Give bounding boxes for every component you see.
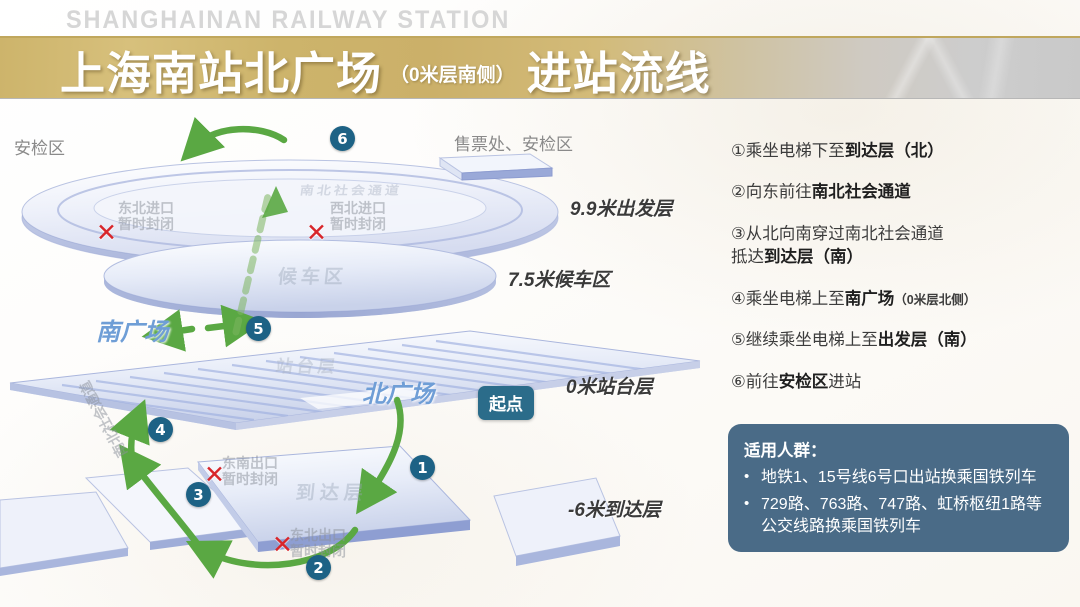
infobox-item-2: • 729路、763路、747路、虹桥枢纽1路等公交线路换乘国铁列车 (744, 494, 1053, 538)
x-icon-nw-up: ✕ (306, 220, 327, 245)
infobox-title: 适用人群： (744, 437, 1053, 461)
step-bold-4: 南广场 (845, 290, 895, 308)
infobox-item-1: • 地铁1、15号线6号口出站换乘国铁列车 (744, 467, 1053, 489)
page-title: 上海南站北广场 （0米层南侧） 进站流线 (60, 40, 711, 98)
step-marker-3: 3 (186, 482, 211, 507)
floor-label-0: 0米站台层 (566, 372, 653, 399)
step-text-3: 从北向南穿过南北社会通道 (746, 225, 944, 243)
step-num-4: ④ (731, 290, 746, 308)
step-tiny-4: （0米层北侧） (894, 293, 976, 307)
step-num-2: ② (731, 183, 746, 201)
label-departure-faint: 南北社会通道 (299, 182, 403, 199)
step-item-5: ⑤继续乘坐电梯上至出发层（南） (731, 329, 1071, 352)
label-ticket-security-right: 售票处、安检区 (454, 130, 573, 155)
step-bold-6: 安检区 (779, 373, 829, 391)
step-num-1: ① (731, 142, 746, 160)
title-main: 上海南站北广场 (60, 37, 382, 102)
label-platform-faint: 站台层 (274, 352, 341, 377)
step-bold-3: 到达层（南） (764, 248, 863, 266)
step-marker-4: 4 (148, 417, 173, 442)
station-watermark: SHANGHAINAN RAILWAY STATION (66, 6, 510, 35)
arrow-step-6-left (198, 129, 284, 144)
step-marker-6: 6 (330, 126, 355, 151)
bullet-icon-1: • (744, 467, 761, 489)
step-bold-1: 到达层（北） (845, 142, 944, 160)
title-tail: 进站流线 (527, 37, 711, 102)
floor-label-7-5: 7.5米候车区 (508, 265, 610, 292)
step-item-2: ②向东前往南北社会通道 (731, 181, 1071, 204)
step-text-4: 乘坐电梯上至 (746, 290, 845, 308)
step-text-6: 前往 (746, 373, 779, 391)
step-text-5: 继续乘坐电梯上至 (746, 331, 878, 349)
ticket-security-kiosk (440, 154, 552, 180)
step-marker-1: 1 (410, 455, 435, 480)
step-marker-5: 5 (246, 316, 271, 341)
label-north-plaza: 北广场 (362, 374, 434, 409)
infobox-item-1-text: 地铁1、15号线6号口出站换乘国铁列车 (761, 467, 1053, 489)
label-south-plaza: 南广场 (96, 312, 168, 347)
step-num-3: ③ (731, 225, 746, 243)
infographic-page: SHANGHAINAN RAILWAY STATION 上海南站北广场 （0米层… (0, 0, 1080, 607)
step-bold-2: 南北社会通道 (812, 183, 911, 201)
label-security-area-left: 安检区 (14, 134, 65, 159)
label-arrival-faint: 到达层 (295, 478, 370, 505)
step-num-6: ⑥ (731, 373, 746, 391)
x-icon-ne-low: ✕ (272, 532, 293, 557)
step-bold-5: 出发层（南） (878, 331, 977, 349)
closed-exit-se: 东南出口 暂时封闭 (222, 455, 278, 487)
step-num-5: ⑤ (731, 331, 746, 349)
step-text-1: 乘坐电梯下至 (746, 142, 845, 160)
floor-label-9-9: 9.9米出发层 (570, 194, 672, 221)
arrow-step-4 (131, 422, 136, 458)
x-icon-ne-up: ✕ (96, 220, 117, 245)
step-text-6b: 进站 (828, 373, 861, 391)
step-text-2: 向东前往 (746, 183, 812, 201)
bullet-icon-2: • (744, 494, 761, 538)
step-item-6: ⑥前往安检区进站 (731, 371, 1071, 394)
title-sub: （0米层南侧） (390, 60, 515, 87)
station-level-diagram: 安检区 售票处、安检区 9.9米出发层 7.5米候车区 0米站台层 -6米到达层… (0, 100, 720, 607)
label-waiting-area-faint: 候车区 (277, 262, 349, 289)
start-point-badge: 起点 (478, 386, 534, 420)
step-instructions-list: ①乘坐电梯下至到达层（北） ②向东前往南北社会通道 ③从北向南穿过南北社会通道抵… (731, 140, 1071, 412)
closed-entrance-nw-up: 西北进口 暂时封闭 (330, 200, 386, 232)
floor-label-minus6: -6米到达层 (568, 495, 661, 522)
infobox-item-2-text: 729路、763路、747路、虹桥枢纽1路等公交线路换乘国铁列车 (761, 494, 1053, 538)
step-marker-2: 2 (306, 555, 331, 580)
closed-entrance-ne-up: 东北进口 暂时封闭 (118, 200, 174, 232)
applicable-groups-box: 适用人群： • 地铁1、15号线6号口出站换乘国铁列车 • 729路、763路、… (728, 424, 1069, 552)
step-item-4: ④乘坐电梯上至南广场（0米层北侧） (731, 288, 1071, 311)
arrow-step-5-left (166, 329, 192, 333)
step-text-3b: 抵达 (731, 248, 764, 266)
step-item-3: ③从北向南穿过南北社会通道抵达到达层（南） (731, 223, 1071, 270)
step-item-1: ①乘坐电梯下至到达层（北） (731, 140, 1071, 163)
x-icon-se: ✕ (204, 462, 225, 487)
